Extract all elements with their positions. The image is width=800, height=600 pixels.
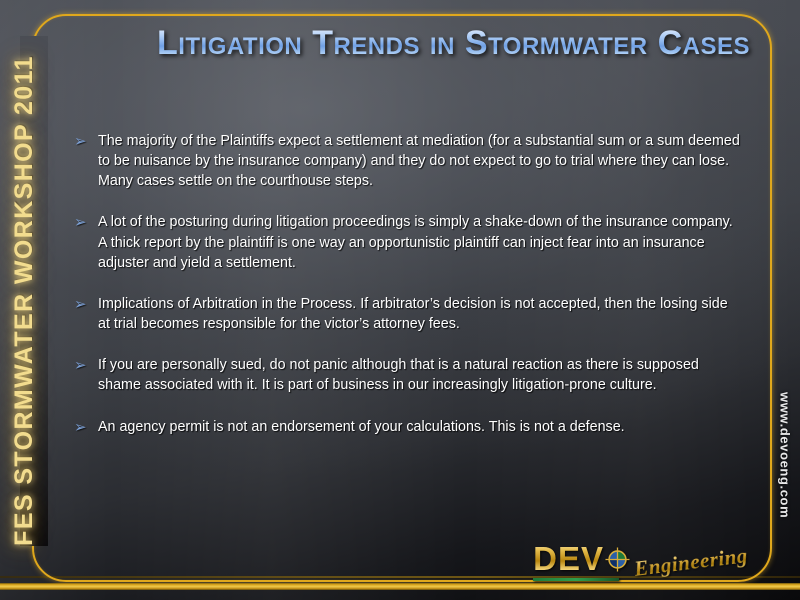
list-item: ➢ Implications of Arbitration in the Pro… xyxy=(74,294,742,334)
website-url-text: www.devoeng.com xyxy=(778,392,793,518)
arrow-bullet-icon: ➢ xyxy=(74,417,98,439)
page-title: Litigation Trends in Stormwater Cases xyxy=(150,24,750,62)
list-item: ➢ The majority of the Plaintiffs expect … xyxy=(74,131,742,191)
website-url: www.devoeng.com xyxy=(772,392,798,518)
arrow-bullet-icon: ➢ xyxy=(74,131,98,153)
logo-underline-bar xyxy=(533,578,619,581)
list-item-text: An agency permit is not an endorsement o… xyxy=(98,417,742,437)
bullet-list: ➢ The majority of the Plaintiffs expect … xyxy=(74,131,742,459)
list-item-text: The majority of the Plaintiffs expect a … xyxy=(98,131,742,191)
presentation-slide: FES STORMWATER WORKSHOP 2011 Litigation … xyxy=(0,0,800,600)
list-item-text: Implications of Arbitration in the Proce… xyxy=(98,294,742,334)
list-item: ➢ An agency permit is not an endorsement… xyxy=(74,417,742,439)
list-item: ➢ If you are personally sued, do not pan… xyxy=(74,355,742,395)
sidebar-workshop-label: FES STORMWATER WORKSHOP 2011 xyxy=(0,0,48,600)
frame-gap-mask xyxy=(20,36,48,546)
arrow-bullet-icon: ➢ xyxy=(74,355,98,377)
logo-wordmark: DEV xyxy=(533,540,630,578)
company-logo: DEV Engineering xyxy=(533,540,748,578)
sidebar-label-text: FES STORMWATER WORKSHOP 2011 xyxy=(10,55,39,546)
list-item-text: A lot of the posturing during litigation… xyxy=(98,212,742,272)
bottom-accent-rule-secondary xyxy=(0,576,800,578)
arrow-bullet-icon: ➢ xyxy=(74,212,98,234)
bottom-accent-rule xyxy=(0,583,800,590)
logo-wordmark-text: DEV xyxy=(533,540,604,578)
list-item-text: If you are personally sued, do not panic… xyxy=(98,355,742,395)
list-item: ➢ A lot of the posturing during litigati… xyxy=(74,212,742,272)
arrow-bullet-icon: ➢ xyxy=(74,294,98,316)
globe-crosshair-icon xyxy=(605,547,630,572)
